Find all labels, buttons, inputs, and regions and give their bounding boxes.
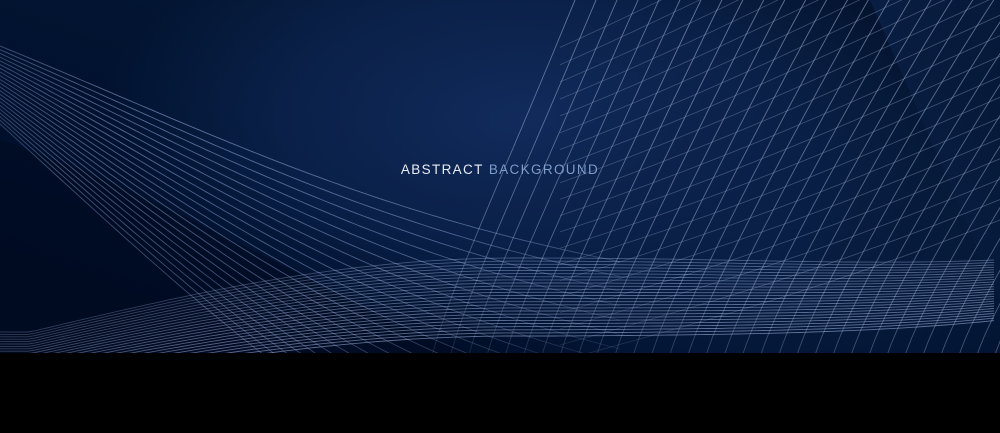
watermark-footer-bar: VectorStock VectorStock.com/48529483 [0,353,1000,433]
abstract-background-artwork: ABSTRACT BACKGROUND [0,0,1000,353]
caption-text: ABSTRACT BACKGROUND [0,160,1000,180]
screenshot-root: ABSTRACT BACKGROUND VectorStock VectorSt… [0,0,1000,433]
caption-word-secondary: BACKGROUND [489,162,599,177]
caption-word-primary: ABSTRACT [401,162,484,177]
